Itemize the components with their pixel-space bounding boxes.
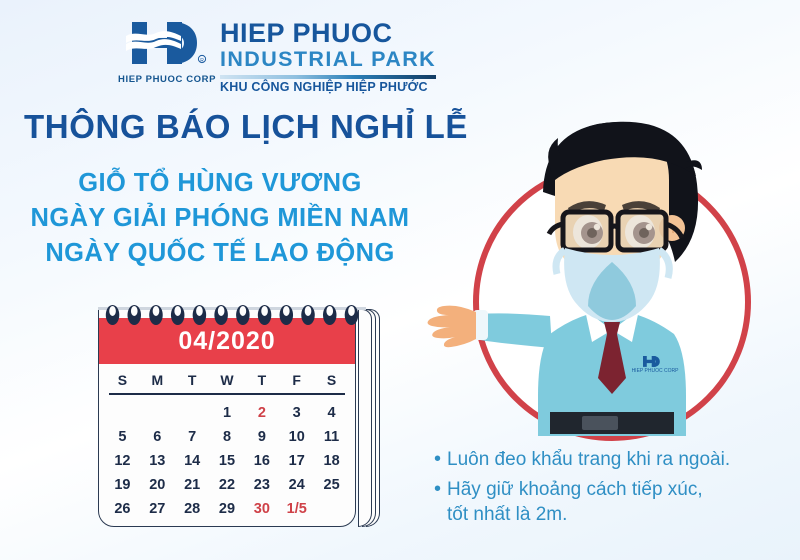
calendar-day-26[interactable]: 26 — [105, 498, 140, 521]
calendar-month-label: 04/2020 — [178, 327, 275, 356]
hiep-phuoc-logo-mark: R HIEP PHUOC CORP — [118, 14, 210, 85]
calendar-weekday-row: S M T W T F S — [99, 364, 355, 393]
advice-item-2: • Hãy giữ khoảng cách tiếp xúc, tốt nhất… — [434, 477, 784, 527]
belt-buckle — [582, 416, 618, 430]
calendar-day-8[interactable]: 8 — [210, 426, 245, 449]
calendar-day-4[interactable]: 4 — [314, 402, 349, 425]
calendar-day-5[interactable]: 5 — [105, 426, 140, 449]
calendar-day-7[interactable]: 7 — [175, 426, 210, 449]
poster-canvas: R HIEP PHUOC CORP HIEP PHUOC INDUSTRIAL … — [0, 0, 800, 560]
calendar-day-14[interactable]: 14 — [175, 450, 210, 473]
calendar-page-stack — [358, 309, 380, 527]
calendar-day-25[interactable]: 25 — [314, 474, 349, 497]
calendar-day-empty — [105, 402, 140, 425]
calendar-day-empty — [140, 402, 175, 425]
calendar-day-16[interactable]: 16 — [244, 450, 279, 473]
weekday-1: M — [140, 372, 175, 388]
calendar-day-28[interactable]: 28 — [175, 498, 210, 521]
calendar-day-21[interactable]: 21 — [175, 474, 210, 497]
calendar-day-23[interactable]: 23 — [244, 474, 279, 497]
advice-text-1: Luôn đeo khẩu trang khi ra ngoài. — [447, 447, 730, 472]
bullet-dot-icon: • — [434, 477, 441, 501]
left-hand — [428, 306, 476, 348]
holiday-list: GIỖ TỔ HÙNG VƯƠNG NGÀY GIẢI PHÓNG MIỀN N… — [0, 166, 440, 272]
calendar-day-27[interactable]: 27 — [140, 498, 175, 521]
weekday-2: T — [175, 372, 210, 388]
calendar-day-grid: 1234567891011121314151617181920212223242… — [99, 399, 355, 524]
weekday-6: S — [314, 372, 349, 388]
calendar-day-12[interactable]: 12 — [105, 450, 140, 473]
logo-line-hiep-phuoc: HIEP PHUOC — [220, 20, 436, 47]
h-wave-logo-icon: R — [118, 14, 210, 72]
calendar-day-1[interactable]: 1 — [210, 402, 245, 425]
weekday-3: W — [210, 372, 245, 388]
advice-list: • Luôn đeo khẩu trang khi ra ngoài. • Hã… — [434, 447, 784, 532]
calendar-day-11[interactable]: 11 — [314, 426, 349, 449]
company-logo: R HIEP PHUOC CORP HIEP PHUOC INDUSTRIAL … — [118, 14, 436, 93]
weekday-4: T — [244, 372, 279, 388]
calendar-divider — [109, 393, 345, 395]
holiday-item-1: GIỖ TỔ HÙNG VƯƠNG — [0, 166, 440, 201]
shirt-logo-text: HIEP PHUOC CORP — [632, 368, 680, 374]
holiday-item-2: NGÀY GIẢI PHÓNG MIỀN NAM — [0, 201, 440, 236]
calendar-day-19[interactable]: 19 — [105, 474, 140, 497]
calendar-day-empty — [175, 402, 210, 425]
calendar-day-2[interactable]: 2 — [244, 402, 279, 425]
calendar-day-10[interactable]: 10 — [279, 426, 314, 449]
calendar-day-3[interactable]: 3 — [279, 402, 314, 425]
calendar-day-22[interactable]: 22 — [210, 474, 245, 497]
calendar-day-empty — [314, 498, 349, 521]
advice-text-2: Hãy giữ khoảng cách tiếp xúc, tốt nhất l… — [447, 477, 703, 527]
calendar-day-17[interactable]: 17 — [279, 450, 314, 473]
calendar-day-20[interactable]: 20 — [140, 474, 175, 497]
calendar-widget: 04/2020 S M T W T F S 123456789101112131… — [98, 303, 366, 533]
weekday-5: F — [279, 372, 314, 388]
calendar-day-6[interactable]: 6 — [140, 426, 175, 449]
bullet-dot-icon: • — [434, 447, 441, 471]
logo-corp-text: HIEP PHUOC CORP — [118, 74, 210, 85]
calendar-spiral-binding-icon — [98, 299, 366, 327]
calendar-day-1-5[interactable]: 1/5 — [279, 498, 314, 521]
weekday-0: S — [105, 372, 140, 388]
mask-character-illustration: HIEP PHUOC CORP — [400, 60, 800, 480]
calendar-day-30[interactable]: 30 — [244, 498, 279, 521]
calendar-day-24[interactable]: 24 — [279, 474, 314, 497]
calendar-day-15[interactable]: 15 — [210, 450, 245, 473]
svg-text:R: R — [200, 58, 204, 64]
calendar-day-9[interactable]: 9 — [244, 426, 279, 449]
calendar-page: 04/2020 S M T W T F S 123456789101112131… — [98, 307, 356, 527]
calendar-day-18[interactable]: 18 — [314, 450, 349, 473]
calendar-day-29[interactable]: 29 — [210, 498, 245, 521]
holiday-item-3: NGÀY QUỐC TẾ LAO ĐỘNG — [0, 236, 440, 271]
advice-item-1: • Luôn đeo khẩu trang khi ra ngoài. — [434, 447, 784, 472]
calendar-day-13[interactable]: 13 — [140, 450, 175, 473]
